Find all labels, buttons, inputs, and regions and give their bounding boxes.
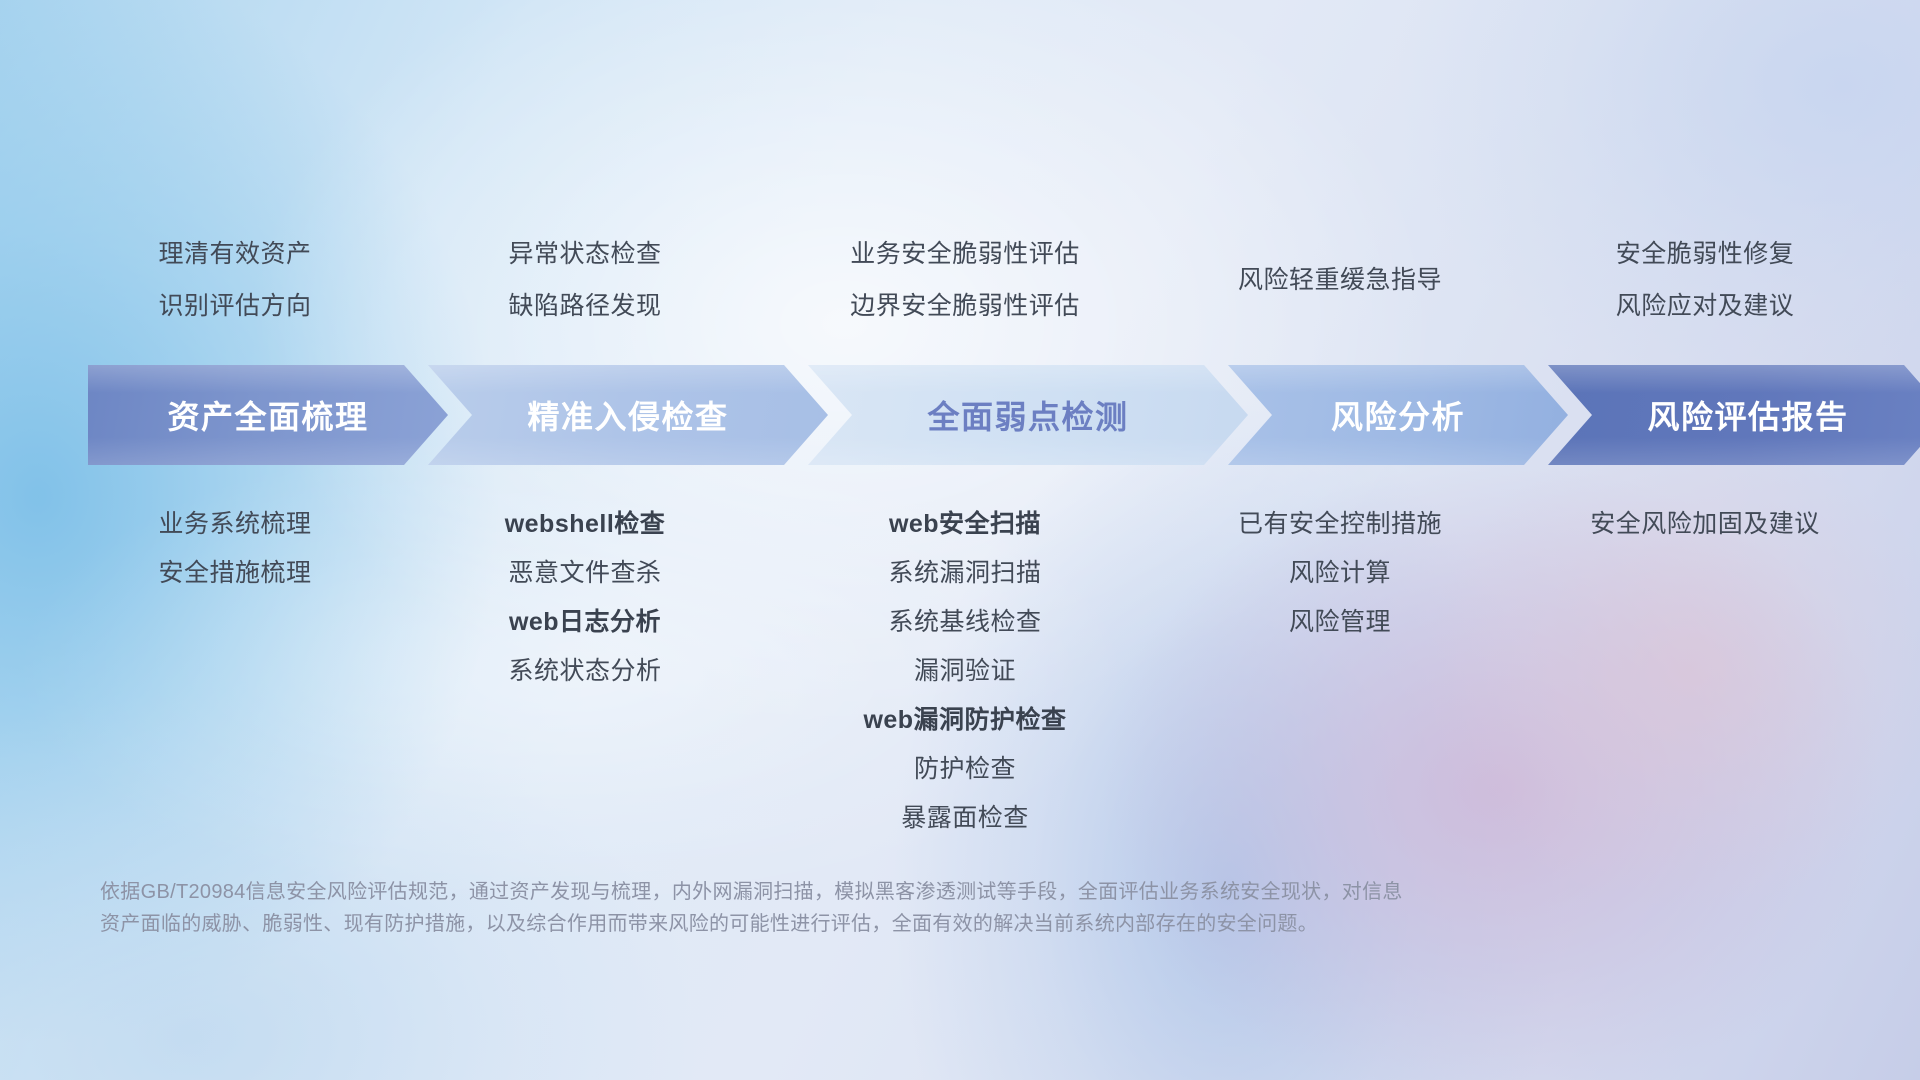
top-item: 安全脆弱性修复 [1510,228,1900,280]
bottom-group-intrusion-check: webshell检查 恶意文件查杀 web日志分析 系统状态分析 [420,500,750,696]
top-item: 业务安全脆弱性评估 [765,228,1165,280]
activity-item: 暴露面检查 [765,794,1165,843]
footer-description: 依据GB/T20984信息安全风险评估规范，通过资产发现与梳理，内外网漏洞扫描，… [100,876,1630,940]
chevron-stage-asset-inventory[interactable]: 资产全面梳理 [88,365,448,465]
top-item: 缺陷路径发现 [420,280,750,332]
chevron-label: 精准入侵检查 [527,392,728,438]
activity-item: 系统基线检查 [765,598,1165,647]
activity-item: web安全扫描 [765,500,1165,549]
top-group-assessment-report: 安全脆弱性修复 风险应对及建议 [1510,228,1900,332]
activity-item: 业务系统梳理 [70,500,400,549]
footer-line: 依据GB/T20984信息安全风险评估规范，通过资产发现与梳理，内外网漏洞扫描，… [100,876,1630,908]
process-chevron-banner: 资产全面梳理 精准入侵检查 全面弱点检测 风险分析 风险评估报告 [88,365,1848,465]
chevron-stage-weakness-detection[interactable]: 全面弱点检测 [808,365,1248,465]
chevron-stage-assessment-report[interactable]: 风险评估报告 [1548,365,1920,465]
top-item: 风险应对及建议 [1510,280,1900,332]
activity-item: 系统状态分析 [420,647,750,696]
bottom-group-assessment-report: 安全风险加固及建议 [1510,500,1900,549]
footer-line: 资产面临的威胁、脆弱性、现有防护措施，以及综合作用而带来风险的可能性进行评估，全… [100,908,1630,940]
top-group-intrusion-check: 异常状态检查 缺陷路径发现 [420,228,750,332]
top-group-asset-inventory: 理清有效资产 识别评估方向 [70,228,400,332]
chevron-label: 资产全面梳理 [167,392,368,438]
activity-item: 漏洞验证 [765,647,1165,696]
top-group-weakness-detection: 业务安全脆弱性评估 边界安全脆弱性评估 [765,228,1165,332]
chevron-stage-risk-analysis[interactable]: 风险分析 [1228,365,1568,465]
chevron-stage-intrusion-check[interactable]: 精准入侵检查 [428,365,828,465]
top-outcomes-row: 理清有效资产 识别评估方向 异常状态检查 缺陷路径发现 业务安全脆弱性评估 边界… [0,228,1920,348]
activity-item: 安全措施梳理 [70,549,400,598]
activity-item: web日志分析 [420,598,750,647]
bottom-group-asset-inventory: 业务系统梳理 安全措施梳理 [70,500,400,598]
top-group-risk-analysis: 风险轻重缓急指导 [1145,254,1535,306]
top-item: 边界安全脆弱性评估 [765,280,1165,332]
top-item: 异常状态检查 [420,228,750,280]
activity-item: 系统漏洞扫描 [765,549,1165,598]
activity-item: 风险计算 [1145,549,1535,598]
chevron-label: 风险评估报告 [1647,392,1848,438]
activity-item: 安全风险加固及建议 [1510,500,1900,549]
activity-item: webshell检查 [420,500,750,549]
top-item: 风险轻重缓急指导 [1145,254,1535,306]
activity-item: 恶意文件查杀 [420,549,750,598]
activity-item: 防护检查 [765,745,1165,794]
activity-item: 已有安全控制措施 [1145,500,1535,549]
activity-item: 风险管理 [1145,598,1535,647]
chevron-label: 风险分析 [1331,392,1465,438]
activity-item: web漏洞防护检查 [765,696,1165,745]
bottom-group-weakness-detection: web安全扫描 系统漏洞扫描 系统基线检查 漏洞验证 web漏洞防护检查 防护检… [765,500,1165,843]
slide-canvas: 理清有效资产 识别评估方向 异常状态检查 缺陷路径发现 业务安全脆弱性评估 边界… [0,0,1920,1080]
top-item: 识别评估方向 [70,280,400,332]
chevron-label: 全面弱点检测 [927,392,1128,438]
top-item: 理清有效资产 [70,228,400,280]
bottom-group-risk-analysis: 已有安全控制措施 风险计算 风险管理 [1145,500,1535,647]
